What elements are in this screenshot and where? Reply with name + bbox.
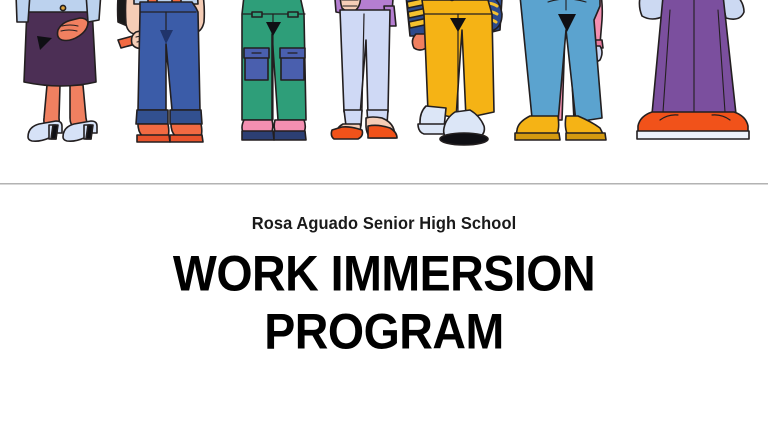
figure-green-overalls [238, 0, 306, 140]
illustration-band [0, 0, 768, 183]
title-text-block: Rosa Aguado Senior High School WORK IMME… [0, 184, 768, 432]
page-title-line-2: PROGRAM [4, 295, 764, 356]
school-name: Rosa Aguado Senior High School [23, 184, 745, 233]
page-title-line-1: WORK IMMERSION [4, 231, 764, 299]
figure-purple-dress [637, 0, 749, 139]
poster-canvas: Rosa Aguado Senior High School WORK IMME… [0, 0, 768, 432]
figure-lavender-top [331, 0, 397, 139]
figure-navy-jacket [406, 0, 502, 145]
figure-blazer-skirt [16, 0, 101, 141]
figures-illustration [0, 0, 768, 183]
figure-pink-hoodie [515, 0, 606, 140]
figure-wide-jeans [118, 0, 205, 142]
